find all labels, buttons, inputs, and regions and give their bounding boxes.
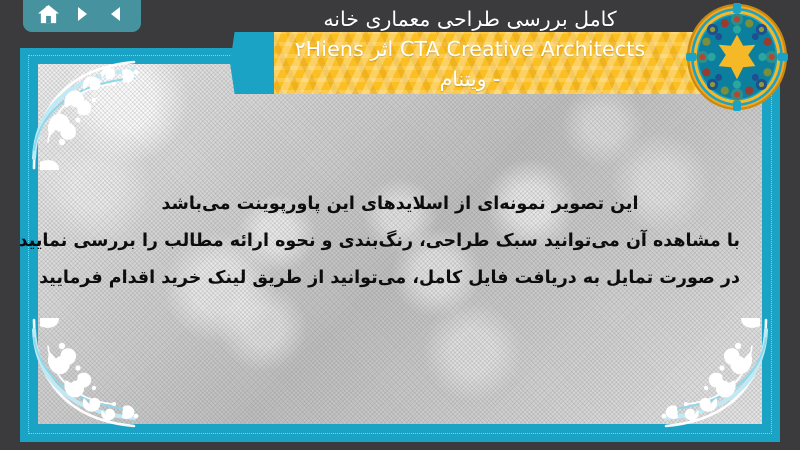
slide-body-text: این تصویر نمونه‌ای از اسلایدهای این پاور… [60,186,740,297]
persian-mandala-medallion-icon [686,3,788,111]
banner-arrow-tail [230,32,276,94]
next-slide-button[interactable] [68,2,96,26]
body-line-2: با مشاهده آن می‌توانید سبک طراحی، رنگ‌بن… [60,223,740,260]
banner-gold-body [274,32,705,94]
body-line-1: این تصویر نمونه‌ای از اسلایدهای این پاور… [60,186,740,223]
slide-canvas: این تصویر نمونه‌ای از اسلایدهای این پاور… [20,48,780,442]
home-icon [37,4,60,25]
triangle-right-icon [72,4,92,24]
slide-viewer-window: این تصویر نمونه‌ای از اسلایدهای این پاور… [0,0,800,450]
slide-navigation-bar [23,0,141,32]
previous-slide-button[interactable] [102,2,130,26]
title-line-1: کامل بررسی طراحی معماری خانه [230,4,710,34]
home-button[interactable] [34,2,62,26]
body-line-3: در صورت تمایل به دریافت فایل کامل، می‌تو… [60,260,740,297]
title-banner [230,32,705,94]
triangle-left-icon [106,4,126,24]
